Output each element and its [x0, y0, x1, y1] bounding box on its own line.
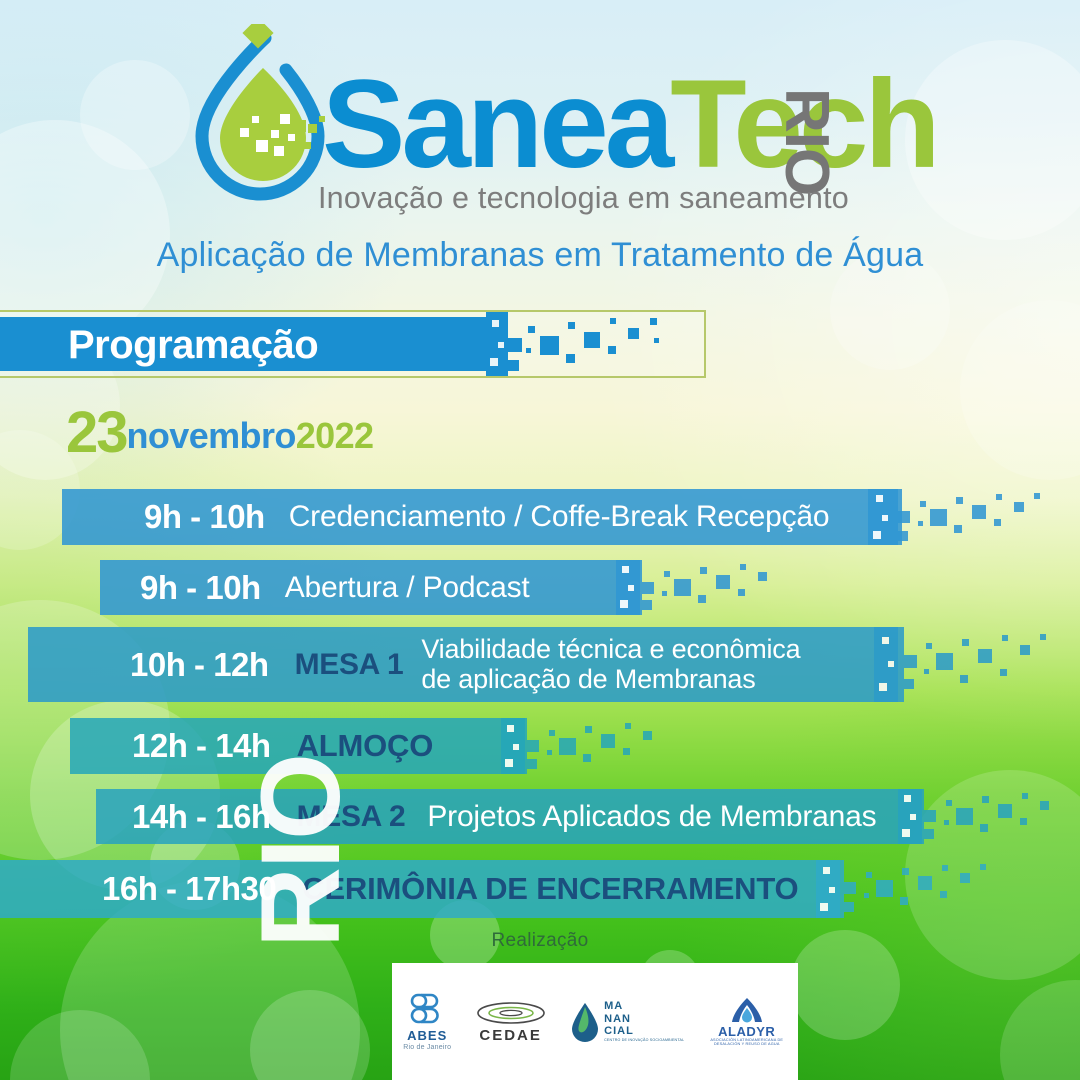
schedule-row[interactable]: 9h - 10h Abertura / Podcast [100, 560, 640, 615]
sponsor-name: ABES [407, 1029, 447, 1042]
sponsor-name: MA NAN CIAL [604, 1000, 634, 1037]
sponsor-name: CEDAE [479, 1028, 542, 1043]
sponsor-manancial[interactable]: MA NAN CIAL CENTRO DE INOVAÇÃO SOCIOAMBI… [570, 1000, 684, 1043]
row-description: Viabilidade técnica e econômica [421, 634, 800, 664]
row-description: Projetos Aplicados de Membranas [427, 800, 876, 834]
sponsor-subtitle: Rio de Janeiro [403, 1044, 451, 1051]
schedule-row[interactable]: 16h - 17h30 CERIMÔNIA DE ENCERRAMENTO [0, 860, 840, 918]
pixel-dissolve-icon [874, 627, 1074, 702]
row-time: 10h - 12h [130, 646, 269, 684]
manancial-line3: CIAL [604, 1025, 634, 1037]
pixel-dissolve-icon [816, 860, 1016, 918]
schedule-row[interactable]: 9h - 10h Credenciamento / Coffe-Break Re… [62, 489, 902, 545]
sponsor-subtitle: CENTRO DE INOVAÇÃO SOCIOAMBIENTAL [604, 1039, 684, 1043]
schedule-row[interactable]: 10h - 12h MESA 1 Viabilidade técnica e e… [28, 627, 898, 702]
programacao-heading: Programação [68, 323, 318, 368]
sponsor-name: ALADYR [718, 1025, 775, 1038]
pixel-dissolve-icon [868, 489, 1068, 545]
pixel-dissolve-icon [501, 718, 691, 774]
rio-watermark: RIO [236, 755, 365, 948]
sponsor-aladyr[interactable]: ALADYR ASOCIACIÓN LATINOAMERICANA DE DES… [707, 997, 787, 1047]
row-description: Credenciamento / Coffe-Break Recepção [289, 500, 830, 534]
schedule-row[interactable]: 14h - 16h MESA 2 Projetos Aplicados de M… [96, 789, 922, 844]
manancial-line1: MA [604, 1000, 623, 1012]
row-label: CERIMÔNIA DE ENCERRAMENTO [302, 871, 798, 907]
abes-8b-monogram-icon [407, 992, 447, 1026]
sponsor-logo-band: ABES Rio de Janeiro CEDAE MA NAN CIAL CE… [392, 963, 798, 1080]
manancial-line2: NAN [604, 1013, 631, 1025]
pixel-dissolve-icon [486, 312, 716, 376]
realizacao-label: Realização [0, 930, 1080, 952]
row-description: Abertura / Podcast [285, 571, 530, 605]
row-label: MESA 1 [295, 648, 404, 682]
pixel-dissolve-icon [616, 560, 806, 615]
manancial-drop-icon [570, 1001, 600, 1043]
row-time: 9h - 10h [140, 569, 261, 607]
row-time: 9h - 10h [144, 498, 265, 536]
sponsor-subtitle: ASOCIACIÓN LATINOAMERICANA DE DESALACIÓN… [707, 1039, 787, 1047]
pixel-dissolve-icon [898, 789, 1080, 844]
cedae-ellipse-icon [474, 1000, 548, 1026]
sponsor-cedae[interactable]: CEDAE [474, 1000, 548, 1043]
row-description-line2: de aplicação de Membranas [421, 664, 755, 694]
sponsor-abes[interactable]: ABES Rio de Janeiro [403, 992, 451, 1051]
aladyr-arch-drop-icon [730, 997, 764, 1023]
schedule-list: 9h - 10h Credenciamento / Coffe-Break Re… [0, 0, 1080, 1080]
